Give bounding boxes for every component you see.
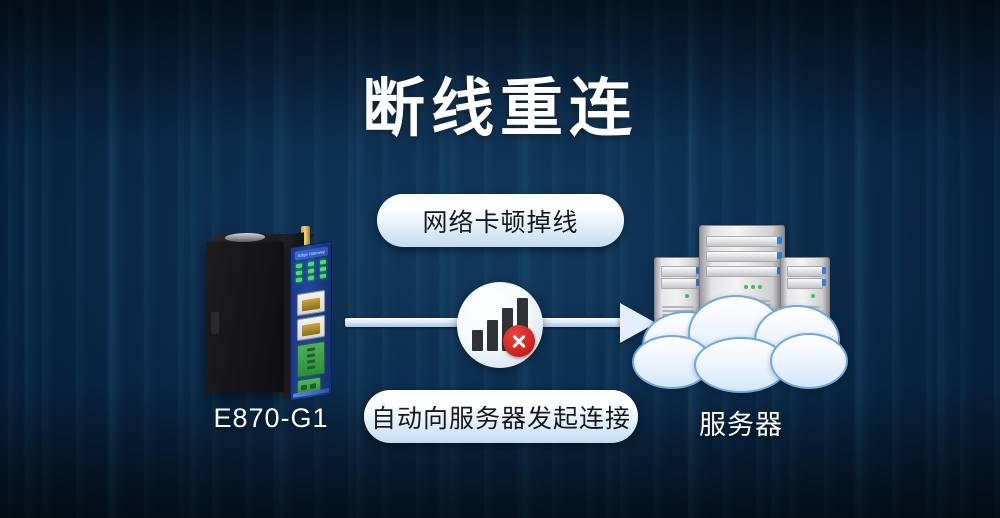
edge-gateway-device: Edge Gateway (196, 226, 346, 401)
status-led (296, 270, 302, 275)
server-status-leds (744, 285, 762, 289)
server-bay (787, 278, 823, 289)
server-bay (661, 266, 697, 277)
server-caption: 服务器 (666, 403, 816, 442)
device-led-grid (296, 259, 328, 282)
status-led (308, 262, 314, 267)
server-bay (787, 266, 823, 277)
status-led (296, 263, 302, 268)
label-network-lag-disconnect: 网络卡顿掉线 (377, 194, 624, 247)
device-brand-logo: Edge Gateway (295, 246, 328, 260)
cloud-server-illustration (636, 225, 846, 390)
signal-disconnected-icon (457, 282, 543, 368)
device-latch (211, 312, 219, 334)
error-cross-icon (503, 325, 535, 357)
ethernet-port-2 (297, 315, 325, 341)
pill-top-text: 网络卡顿掉线 (422, 203, 578, 239)
server-status-leds (811, 294, 815, 298)
signal-bar-2 (487, 320, 498, 351)
cloud-shape (770, 333, 848, 389)
status-led (308, 269, 314, 274)
status-led (320, 260, 326, 265)
server-bay (706, 236, 778, 247)
server-bay (706, 266, 778, 277)
status-led (296, 277, 302, 282)
server-bay (706, 251, 778, 262)
status-led (320, 274, 326, 279)
ethernet-port-1 (297, 290, 325, 316)
server-status-leds (685, 294, 689, 298)
signal-bar-1 (472, 330, 483, 351)
server-bay (661, 278, 697, 289)
device-io-panel: Edge Gateway (290, 241, 332, 402)
device-caption: E870-G1 (196, 403, 346, 434)
diagram-canvas: 断线重连 网络卡顿掉线 自动向服务器发起连接 Edge Gateway (0, 0, 1000, 518)
pill-bottom-text: 自动向服务器发起连接 (371, 399, 631, 435)
page-title: 断线重连 (0, 58, 1000, 149)
device-front-cover (206, 242, 284, 392)
status-led (320, 267, 326, 272)
label-auto-reconnect-server: 自动向服务器发起连接 (364, 390, 638, 443)
terminal-block-6pin (297, 341, 325, 378)
status-led (308, 276, 314, 281)
